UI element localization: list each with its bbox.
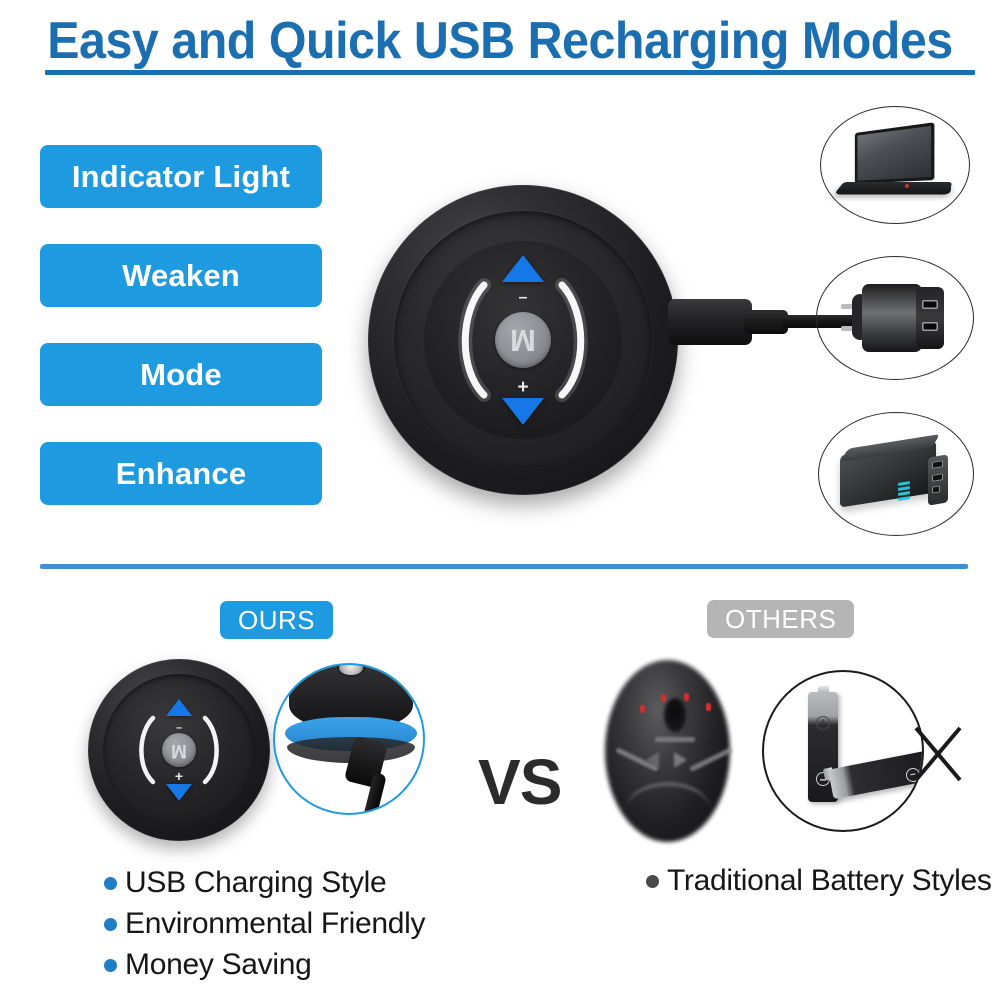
feature-label-enhance[interactable]: Enhance — [40, 442, 322, 505]
increase-sign: + — [517, 381, 528, 395]
ours-benefit-list: USB Charging Style Environmental Friendl… — [104, 866, 425, 989]
weaken-down-triangle-icon[interactable] — [502, 398, 544, 425]
charger-usb-port — [922, 322, 938, 331]
charger-usb-port — [922, 300, 938, 309]
list-item: Money Saving — [104, 948, 425, 982]
mode-button[interactable]: M — [495, 312, 551, 368]
indicator-arc-right-icon — [200, 713, 230, 787]
mode-button-label: M — [171, 741, 187, 760]
laptop-icon — [839, 128, 951, 202]
list-item: Traditional Battery Styles — [646, 864, 992, 898]
charger-body — [862, 284, 922, 352]
others-drawback-list: Traditional Battery Styles — [646, 864, 992, 905]
feature-label-list: Indicator Light Weaken Mode Enhance — [40, 145, 322, 541]
ours-benefit-label: Environmental Friendly — [125, 907, 425, 941]
others-device-red-led — [684, 693, 689, 701]
feature-label-indicator-light[interactable]: Indicator Light — [40, 145, 322, 208]
badge-ours: OURS — [220, 601, 333, 639]
enhance-up-triangle-icon — [166, 699, 192, 716]
usb-plug — [668, 299, 752, 345]
others-device-red-led — [661, 694, 666, 702]
main-device-body: – M + — [368, 185, 678, 495]
power-bank-port — [932, 485, 940, 493]
indicator-arc-left-icon — [440, 277, 492, 403]
feature-label-mode[interactable]: Mode — [40, 343, 322, 406]
charging-source-power-bank — [818, 412, 974, 536]
mode-button: M — [162, 733, 196, 767]
list-item: Environmental Friendly — [104, 907, 425, 941]
usb-port-detail-circle — [273, 663, 425, 815]
ours-benefit-label: USB Charging Style — [125, 866, 386, 900]
laptop-screen — [855, 122, 935, 183]
bullet-dot-icon — [104, 959, 117, 972]
charging-source-laptop — [820, 106, 970, 224]
page-title: Easy and Quick USB Recharging Modes — [35, 14, 965, 68]
others-device-right-arrow-icon — [674, 752, 687, 768]
main-device-control-face: – M + — [368, 185, 678, 495]
ours-device-control-face: – M + — [88, 659, 270, 841]
weaken-down-triangle-icon — [166, 784, 192, 801]
laptop-trackpoint — [905, 184, 909, 188]
feature-label-weaken[interactable]: Weaken — [40, 244, 322, 307]
title-underline — [45, 70, 975, 75]
bullet-dot-icon — [104, 877, 117, 890]
charging-source-wall-charger — [816, 256, 974, 380]
mode-button-label: M — [510, 325, 536, 356]
indicator-arc-right-icon — [554, 277, 606, 403]
ours-benefit-label: Money Saving — [125, 948, 312, 982]
section-divider — [40, 564, 968, 569]
others-device-red-led — [640, 705, 645, 713]
power-bank-icon — [840, 442, 952, 506]
power-bank-led — [898, 496, 910, 500]
usb-wall-charger-icon — [836, 282, 954, 354]
enhance-up-triangle-icon[interactable] — [502, 255, 544, 282]
bullet-dot-icon — [646, 875, 659, 888]
ours-device-body: – M + — [88, 659, 270, 841]
others-drawback-label: Traditional Battery Styles — [667, 864, 992, 898]
versus-label: VS — [478, 745, 561, 819]
no-batteries-x-icon — [908, 722, 968, 786]
others-device-label-bar — [655, 737, 695, 742]
infographic-page: Easy and Quick USB Recharging Modes Indi… — [0, 0, 1000, 1000]
badge-others: OTHERS — [707, 600, 854, 638]
list-item: USB Charging Style — [104, 866, 425, 900]
bullet-dot-icon — [104, 918, 117, 931]
indicator-arc-left-icon — [128, 713, 158, 787]
charger-port-face — [916, 287, 944, 349]
batteries-circle: + – – — [762, 670, 924, 832]
others-device-center-hole — [664, 698, 686, 732]
decrease-sign: – — [519, 291, 528, 305]
others-device-red-led — [706, 703, 711, 711]
battery-positive-mark: + — [816, 716, 830, 730]
laptop-keyboard-base — [834, 182, 952, 194]
increase-sign: + — [175, 769, 183, 783]
page-title-wrap: Easy and Quick USB Recharging Modes — [0, 14, 1000, 68]
